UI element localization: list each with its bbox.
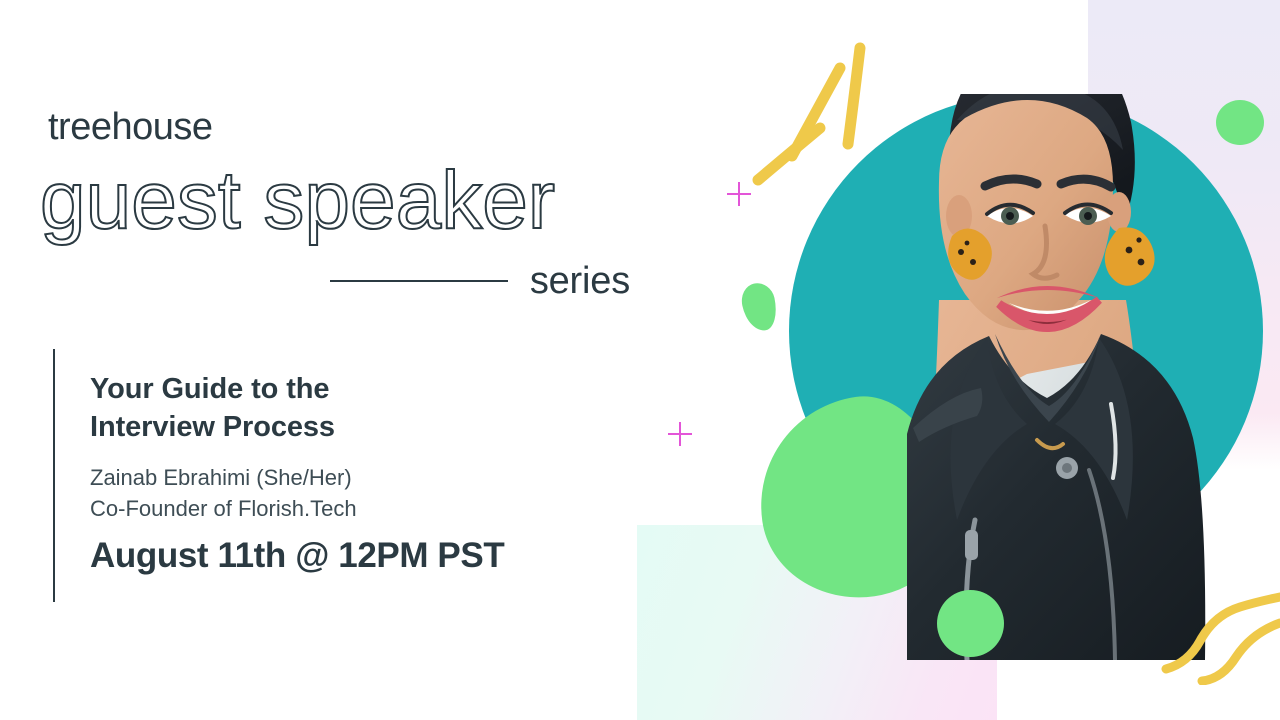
portrait-illustration	[789, 0, 1263, 660]
green-blob-small	[738, 280, 780, 334]
speaker-role: Co-Founder of Florish.Tech	[90, 493, 560, 524]
promo-graphic: treehouse guest speaker series Your Guid…	[0, 0, 1280, 720]
series-label: series	[530, 262, 630, 300]
magenta-plus-upper	[727, 182, 751, 206]
talk-title: Your Guide to the Interview Process	[90, 370, 530, 447]
green-circle-bottom	[937, 590, 1004, 657]
speaker-name: Zainab Ebrahimi (She/Her)	[90, 462, 560, 493]
series-divider-rule	[330, 280, 508, 282]
brand-name: treehouse	[48, 108, 213, 146]
series-row: series	[40, 258, 630, 304]
speaker-portrait-photo	[789, 0, 1263, 660]
headline-outline: guest speaker	[40, 160, 555, 242]
event-datetime: August 11th @ 12PM PST	[90, 537, 650, 576]
left-accent-bar	[53, 349, 55, 602]
speaker-block: Zainab Ebrahimi (She/Her) Co-Founder of …	[90, 462, 560, 524]
talk-title-line-1: Your Guide to the	[90, 370, 530, 408]
talk-title-line-2: Interview Process	[90, 408, 530, 446]
magenta-plus-lower	[668, 422, 692, 446]
